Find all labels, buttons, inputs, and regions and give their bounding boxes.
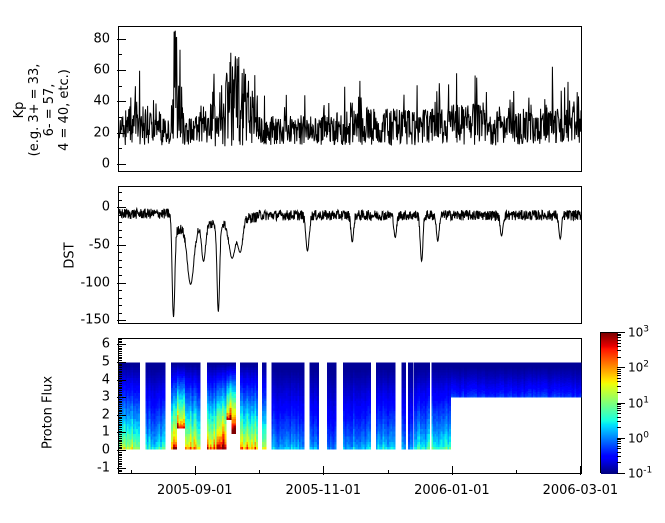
minor-tick bbox=[118, 417, 122, 418]
minor-tick bbox=[118, 438, 122, 439]
minor-tick bbox=[118, 429, 122, 430]
minor-tick bbox=[118, 454, 122, 455]
y-tick-label: 0 bbox=[60, 443, 110, 458]
minor-tick bbox=[118, 471, 122, 472]
minor-tick bbox=[118, 237, 122, 238]
colorbar-major-tick bbox=[617, 473, 625, 474]
minor-tick bbox=[118, 372, 122, 373]
minor-tick bbox=[118, 355, 122, 356]
colorbar-minor-tick bbox=[617, 346, 621, 347]
colorbar-minor-tick bbox=[617, 441, 621, 442]
colorbar-minor-tick bbox=[617, 410, 621, 411]
minor-tick bbox=[118, 464, 122, 465]
minor-tick bbox=[118, 346, 122, 347]
minor-tick bbox=[118, 452, 122, 453]
figure-canvas: 020406080 Kp(e.g. 3+ = 33,6- = 57,4 = 40… bbox=[0, 0, 665, 523]
major-tick bbox=[117, 70, 126, 71]
minor-tick bbox=[118, 290, 122, 291]
minor-tick bbox=[118, 410, 122, 411]
minor-tick bbox=[118, 252, 122, 253]
minor-tick bbox=[118, 440, 122, 441]
major-tick bbox=[117, 380, 126, 381]
colorbar-minor-tick bbox=[617, 427, 621, 428]
colorbar-minor-tick bbox=[617, 373, 621, 374]
kp-series-svg bbox=[119, 27, 581, 171]
minor-tick bbox=[118, 402, 122, 403]
minor-tick bbox=[118, 463, 122, 464]
x-major-tick bbox=[323, 466, 324, 475]
x-tick-label: 2006-03-01 bbox=[543, 483, 619, 498]
axis-label-line: 4 = 40, etc.) bbox=[57, 30, 72, 190]
minor-tick bbox=[118, 473, 122, 474]
colorbar-minor-tick bbox=[617, 350, 621, 351]
x-major-tick bbox=[452, 466, 453, 475]
x-major-tick bbox=[580, 466, 581, 475]
minor-tick bbox=[118, 461, 122, 462]
colorbar-minor-tick bbox=[617, 446, 621, 447]
minor-tick bbox=[118, 390, 122, 391]
major-tick bbox=[117, 450, 126, 451]
minor-tick bbox=[118, 357, 122, 358]
minor-tick bbox=[118, 418, 122, 419]
axis-label-line: 6- = 57, bbox=[42, 30, 57, 190]
minor-tick bbox=[118, 86, 122, 87]
minor-tick bbox=[118, 376, 122, 377]
minor-tick bbox=[118, 466, 122, 467]
minor-tick bbox=[118, 54, 122, 55]
minor-tick bbox=[118, 404, 122, 405]
minor-tick bbox=[118, 374, 122, 375]
major-tick bbox=[117, 39, 126, 40]
colorbar-major-tick bbox=[617, 332, 625, 333]
colorbar bbox=[600, 332, 617, 473]
major-tick bbox=[117, 164, 126, 165]
minor-tick bbox=[118, 385, 122, 386]
minor-tick bbox=[118, 364, 122, 365]
minor-tick bbox=[118, 422, 122, 423]
minor-tick bbox=[118, 365, 122, 366]
minor-tick bbox=[118, 371, 122, 372]
minor-tick bbox=[118, 378, 122, 379]
colorbar-minor-tick bbox=[617, 452, 621, 453]
colorbar-tick-label: 101 bbox=[628, 395, 649, 410]
minor-tick bbox=[118, 427, 122, 428]
minor-tick bbox=[118, 395, 122, 396]
major-tick bbox=[117, 320, 126, 321]
proton-y-axis-label: Proton Flux bbox=[41, 358, 56, 468]
minor-tick bbox=[118, 401, 122, 402]
minor-tick bbox=[118, 192, 122, 193]
colorbar-minor-tick bbox=[617, 406, 621, 407]
minor-tick bbox=[118, 381, 122, 382]
colorbar-minor-tick bbox=[617, 340, 621, 341]
major-tick bbox=[117, 397, 126, 398]
colorbar-minor-tick bbox=[617, 448, 621, 449]
colorbar-minor-tick bbox=[617, 417, 621, 418]
colorbar-minor-tick bbox=[617, 381, 621, 382]
colorbar-minor-tick bbox=[617, 462, 621, 463]
minor-tick bbox=[118, 260, 122, 261]
colorbar-tick-label: 10-1 bbox=[628, 466, 652, 481]
minor-tick bbox=[118, 358, 122, 359]
y-tick-label: 3 bbox=[60, 390, 110, 405]
y-tick-label: 6 bbox=[60, 337, 110, 352]
x-tick-label: 2006-01-01 bbox=[414, 483, 490, 498]
y-tick-label: 2 bbox=[60, 407, 110, 422]
x-minor-tick bbox=[388, 470, 389, 474]
colorbar-minor-tick bbox=[617, 369, 621, 370]
colorbar-minor-tick bbox=[617, 413, 621, 414]
y-tick-label: 5 bbox=[60, 354, 110, 369]
minor-tick bbox=[118, 424, 122, 425]
axis-label-line: (e.g. 3+ = 33, bbox=[27, 30, 42, 190]
colorbar-minor-tick bbox=[617, 392, 621, 393]
minor-tick bbox=[118, 360, 122, 361]
minor-tick bbox=[118, 411, 122, 412]
minor-tick bbox=[118, 148, 122, 149]
colorbar-minor-tick bbox=[617, 371, 621, 372]
minor-tick bbox=[118, 443, 122, 444]
minor-tick bbox=[118, 222, 122, 223]
axis-label-line: Kp bbox=[12, 30, 27, 190]
y-tick-label: 1 bbox=[60, 425, 110, 440]
colorbar-minor-tick bbox=[617, 439, 621, 440]
minor-tick bbox=[118, 459, 122, 460]
major-tick bbox=[117, 245, 126, 246]
dst-series-svg bbox=[119, 187, 581, 323]
minor-tick bbox=[118, 455, 122, 456]
minor-tick bbox=[118, 457, 122, 458]
minor-tick bbox=[118, 388, 122, 389]
colorbar-minor-tick bbox=[617, 357, 621, 358]
minor-tick bbox=[118, 383, 122, 384]
kp-y-axis-label: Kp(e.g. 3+ = 33,6- = 57,4 = 40, etc.) bbox=[12, 30, 72, 190]
colorbar-minor-tick bbox=[617, 456, 621, 457]
minor-tick bbox=[118, 447, 122, 448]
x-minor-tick bbox=[259, 470, 260, 474]
major-tick bbox=[117, 432, 126, 433]
y-tick-label: 0 bbox=[60, 200, 110, 215]
colorbar-minor-tick bbox=[617, 337, 621, 338]
minor-tick bbox=[118, 200, 122, 201]
colorbar-minor-tick bbox=[617, 421, 621, 422]
major-tick bbox=[117, 207, 126, 208]
minor-tick bbox=[118, 349, 122, 350]
minor-tick bbox=[118, 353, 122, 354]
minor-tick bbox=[118, 420, 122, 421]
colorbar-minor-tick bbox=[617, 386, 621, 387]
minor-tick bbox=[118, 470, 122, 471]
major-tick bbox=[117, 468, 126, 469]
minor-tick bbox=[118, 434, 122, 435]
minor-tick bbox=[118, 215, 122, 216]
major-tick bbox=[117, 415, 126, 416]
minor-tick bbox=[118, 406, 122, 407]
major-tick bbox=[117, 283, 126, 284]
colorbar-minor-tick bbox=[617, 378, 621, 379]
minor-tick bbox=[118, 436, 122, 437]
major-tick bbox=[117, 101, 126, 102]
minor-tick bbox=[118, 267, 122, 268]
minor-tick bbox=[118, 230, 122, 231]
colorbar-minor-tick bbox=[617, 408, 621, 409]
colorbar-tick-label: 103 bbox=[628, 325, 649, 340]
minor-tick bbox=[118, 305, 122, 306]
colorbar-major-tick bbox=[617, 367, 625, 368]
minor-tick bbox=[118, 369, 122, 370]
minor-tick bbox=[118, 298, 122, 299]
minor-tick bbox=[118, 408, 122, 409]
x-minor-tick bbox=[131, 470, 132, 474]
minor-tick bbox=[118, 413, 122, 414]
minor-tick bbox=[118, 425, 122, 426]
colorbar-minor-tick bbox=[617, 375, 621, 376]
minor-tick bbox=[118, 445, 122, 446]
proton-flux-spectrogram bbox=[119, 339, 581, 473]
minor-tick bbox=[118, 394, 122, 395]
minor-tick bbox=[118, 392, 122, 393]
minor-tick bbox=[118, 275, 122, 276]
minor-tick bbox=[118, 313, 122, 314]
major-tick bbox=[117, 133, 126, 134]
minor-tick bbox=[118, 387, 122, 388]
colorbar-tick-label: 102 bbox=[628, 360, 649, 375]
minor-tick bbox=[118, 367, 122, 368]
colorbar-tick-label: 100 bbox=[628, 430, 649, 445]
y-tick-label: -150 bbox=[60, 313, 110, 328]
major-tick bbox=[117, 362, 126, 363]
x-tick-label: 2005-11-01 bbox=[286, 483, 362, 498]
x-minor-tick bbox=[516, 470, 517, 474]
colorbar-minor-tick bbox=[617, 443, 621, 444]
major-tick bbox=[117, 344, 126, 345]
minor-tick bbox=[118, 399, 122, 400]
minor-tick bbox=[118, 351, 122, 352]
minor-tick bbox=[118, 341, 122, 342]
colorbar-minor-tick bbox=[617, 334, 621, 335]
minor-tick bbox=[118, 448, 122, 449]
colorbar-minor-tick bbox=[617, 343, 621, 344]
x-major-tick bbox=[195, 466, 196, 475]
minor-tick bbox=[118, 348, 122, 349]
axis-label-line: Proton Flux bbox=[41, 358, 56, 468]
dst-y-axis-label: DST bbox=[63, 216, 78, 296]
minor-tick bbox=[118, 441, 122, 442]
minor-tick bbox=[118, 117, 122, 118]
axis-label-line: DST bbox=[63, 216, 78, 296]
y-tick-label: -1 bbox=[60, 460, 110, 475]
minor-tick bbox=[118, 342, 122, 343]
minor-tick bbox=[118, 339, 122, 340]
colorbar-minor-tick bbox=[617, 335, 621, 336]
y-tick-label: 4 bbox=[60, 372, 110, 387]
colorbar-minor-tick bbox=[617, 404, 621, 405]
x-tick-label: 2005-09-01 bbox=[157, 483, 233, 498]
